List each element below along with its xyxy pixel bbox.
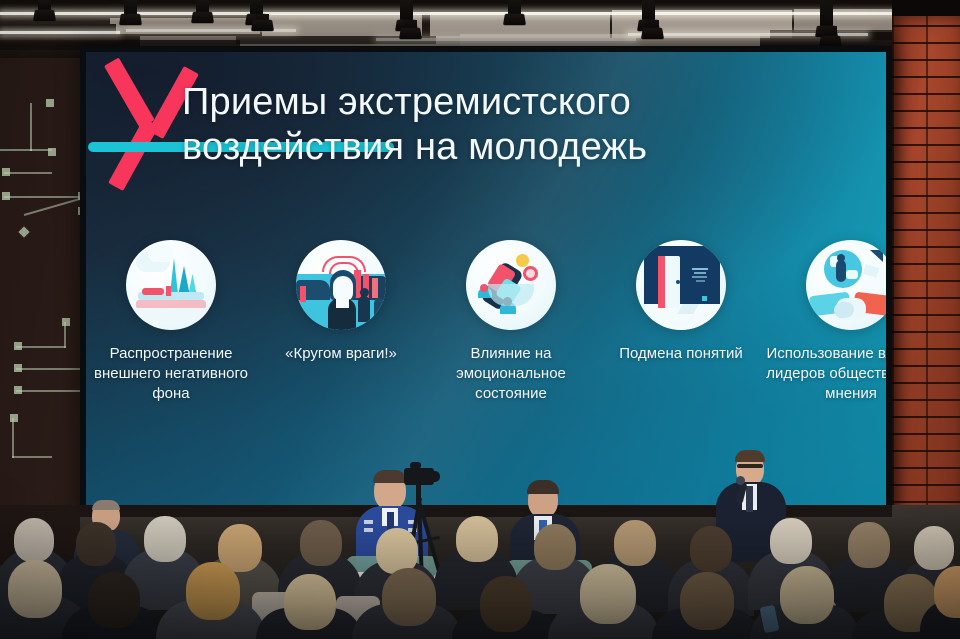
logo-stroke-left bbox=[104, 58, 155, 129]
slide-item-5: Использование влияния лидеров общественн… bbox=[766, 240, 886, 403]
slide-item-3: Влияние на эмоциональное состояние bbox=[426, 240, 596, 403]
slide-title-line-1: Приемы экстремистского bbox=[182, 80, 842, 125]
slide-item-1-caption: Распространение внешнего негативного фон… bbox=[86, 344, 256, 403]
slide-title: Приемы экстремистского воздействия на мо… bbox=[182, 80, 842, 170]
smartphone-emotions-icon bbox=[466, 240, 556, 330]
slide-item-5-caption: Использование влияния лидеров общественн… bbox=[766, 344, 886, 403]
slide-item-2-caption: «Кругом враги!» bbox=[256, 344, 426, 364]
logo-stroke-tail bbox=[108, 118, 159, 191]
speaker-glasses bbox=[737, 464, 763, 468]
slide-title-line-2: воздействия на молодежь bbox=[182, 125, 842, 170]
conference-hall-scene: Приемы экстремистского воздействия на мо… bbox=[0, 0, 960, 639]
presentation-slide: Приемы экстремистского воздействия на мо… bbox=[86, 52, 886, 511]
slide-item-4-caption: Подмена понятий bbox=[596, 344, 766, 364]
slide-item-3-caption: Влияние на эмоциональное состояние bbox=[426, 344, 596, 403]
person-surrounded-by-enemies-icon bbox=[296, 240, 386, 330]
slide-item-4: Подмена понятий bbox=[596, 240, 766, 403]
smog-city-pollution-icon bbox=[126, 240, 216, 330]
open-door-substitution-icon bbox=[636, 240, 726, 330]
slide-item-1: Распространение внешнего негативного фон… bbox=[86, 240, 256, 403]
globe-handshake-opinion-leaders-icon bbox=[806, 240, 886, 330]
slide-items-row: Распространение внешнего негативного фон… bbox=[86, 240, 886, 403]
slide-item-2: «Кругом враги!» bbox=[256, 240, 426, 403]
